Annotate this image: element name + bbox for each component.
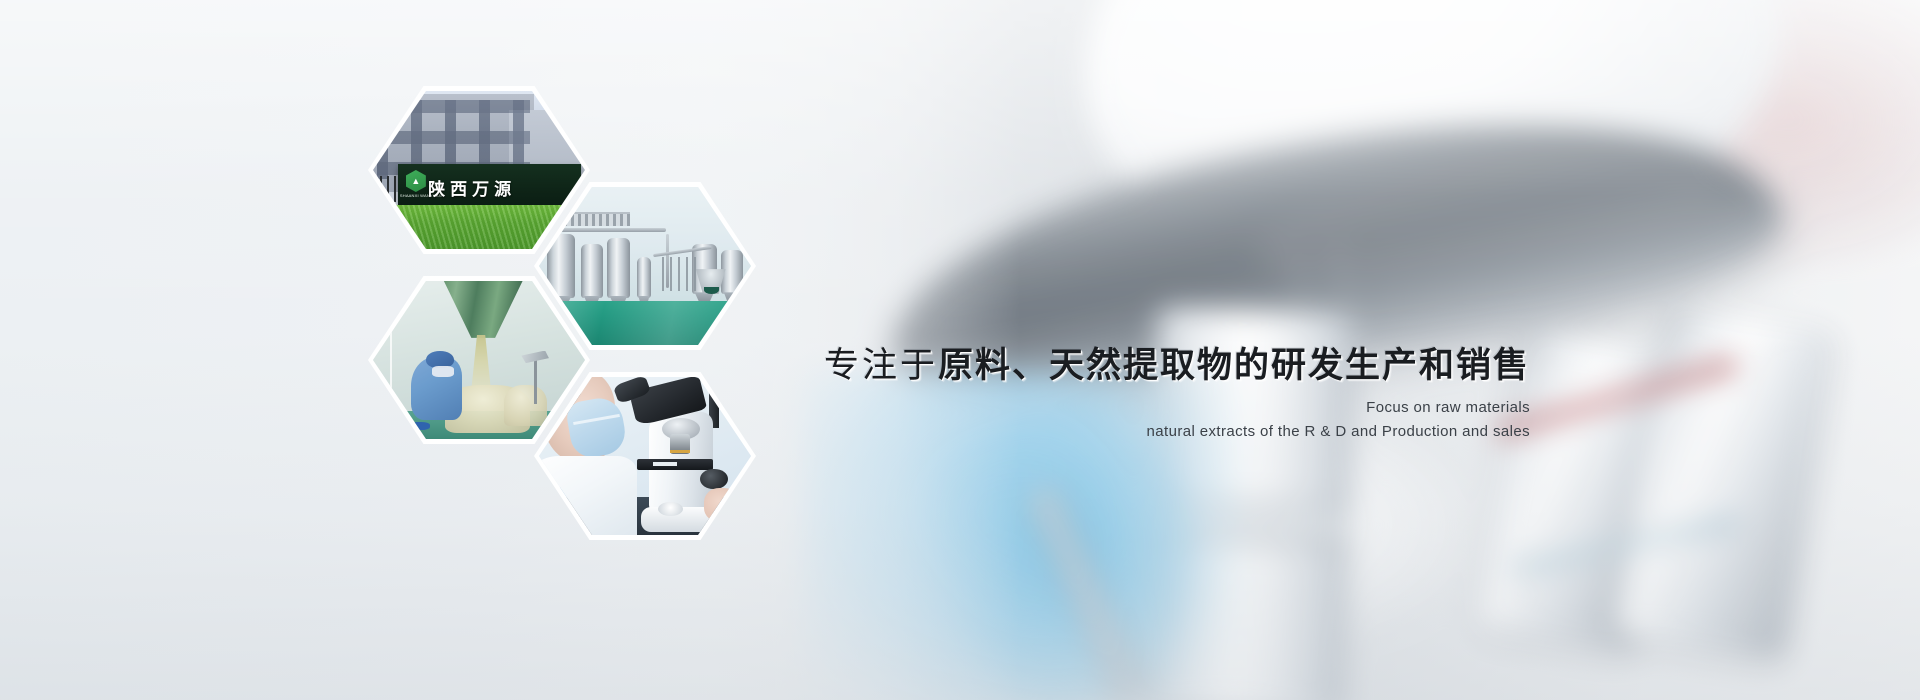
banner-subtitle-line-1: Focus on raw materials	[700, 399, 1530, 416]
lab-specimen-slide	[653, 462, 676, 467]
workshop-catwalk	[550, 212, 631, 226]
hex-photo-powder-packing[interactable]	[368, 276, 590, 444]
collection-bag-side	[504, 385, 546, 426]
workshop-pipe-horizontal	[556, 228, 666, 232]
scale-stand-rod	[534, 360, 537, 404]
hero-banner: ▲ SHAANXI WANYUAN 陕西万源	[0, 0, 1920, 700]
worker-photo	[373, 281, 585, 439]
headline-main: 原料、天然提取物的研发生产和销售	[938, 346, 1530, 386]
factory-photo: ▲ SHAANXI WANYUAN 陕西万源	[373, 91, 585, 249]
hex-inner-equipment	[539, 187, 751, 345]
hex-photo-factory-exterior[interactable]: ▲ SHAANXI WANYUAN 陕西万源	[368, 86, 590, 254]
technician-lab-coat	[539, 456, 637, 535]
hex-photo-extraction-workshop[interactable]	[534, 182, 756, 350]
extraction-tank-3	[607, 238, 630, 298]
factory-sign-text: 陕西万源	[428, 167, 576, 208]
hex-inner-factory: ▲ SHAANXI WANYUAN 陕西万源	[373, 91, 585, 249]
lab-focus-knob	[700, 469, 728, 490]
extraction-tank-1	[547, 234, 575, 297]
logo-hexagon-shape: ▲	[406, 170, 426, 192]
workshop-railing	[662, 257, 696, 292]
lab-objective-gold-band	[670, 450, 689, 453]
lab-microscope-illuminator	[658, 502, 683, 516]
banner-text-block: 专注于原料、天然提取物的研发生产和销售 Focus on raw materia…	[700, 346, 1530, 440]
hex-inner-worker	[373, 281, 585, 439]
cleanroom-wall-seam	[390, 290, 392, 401]
worker-face-mask	[432, 366, 453, 377]
extraction-tank-2	[581, 244, 602, 298]
extraction-tank-4	[637, 257, 652, 298]
worker-shoe-cover	[409, 422, 430, 430]
banner-subtitle-line-2: natural extracts of the R & D and Produc…	[700, 423, 1530, 440]
headline-prefix: 专注于	[824, 346, 938, 386]
company-logo-icon: ▲ SHAANXI WANYUAN	[406, 170, 428, 194]
worker-cap	[426, 351, 454, 368]
technician-hand	[704, 488, 742, 523]
equipment-photo	[539, 187, 751, 345]
banner-headline: 专注于原料、天然提取物的研发生产和销售	[700, 346, 1530, 387]
hexagon-photo-cluster: ▲ SHAANXI WANYUAN 陕西万源	[368, 86, 788, 566]
